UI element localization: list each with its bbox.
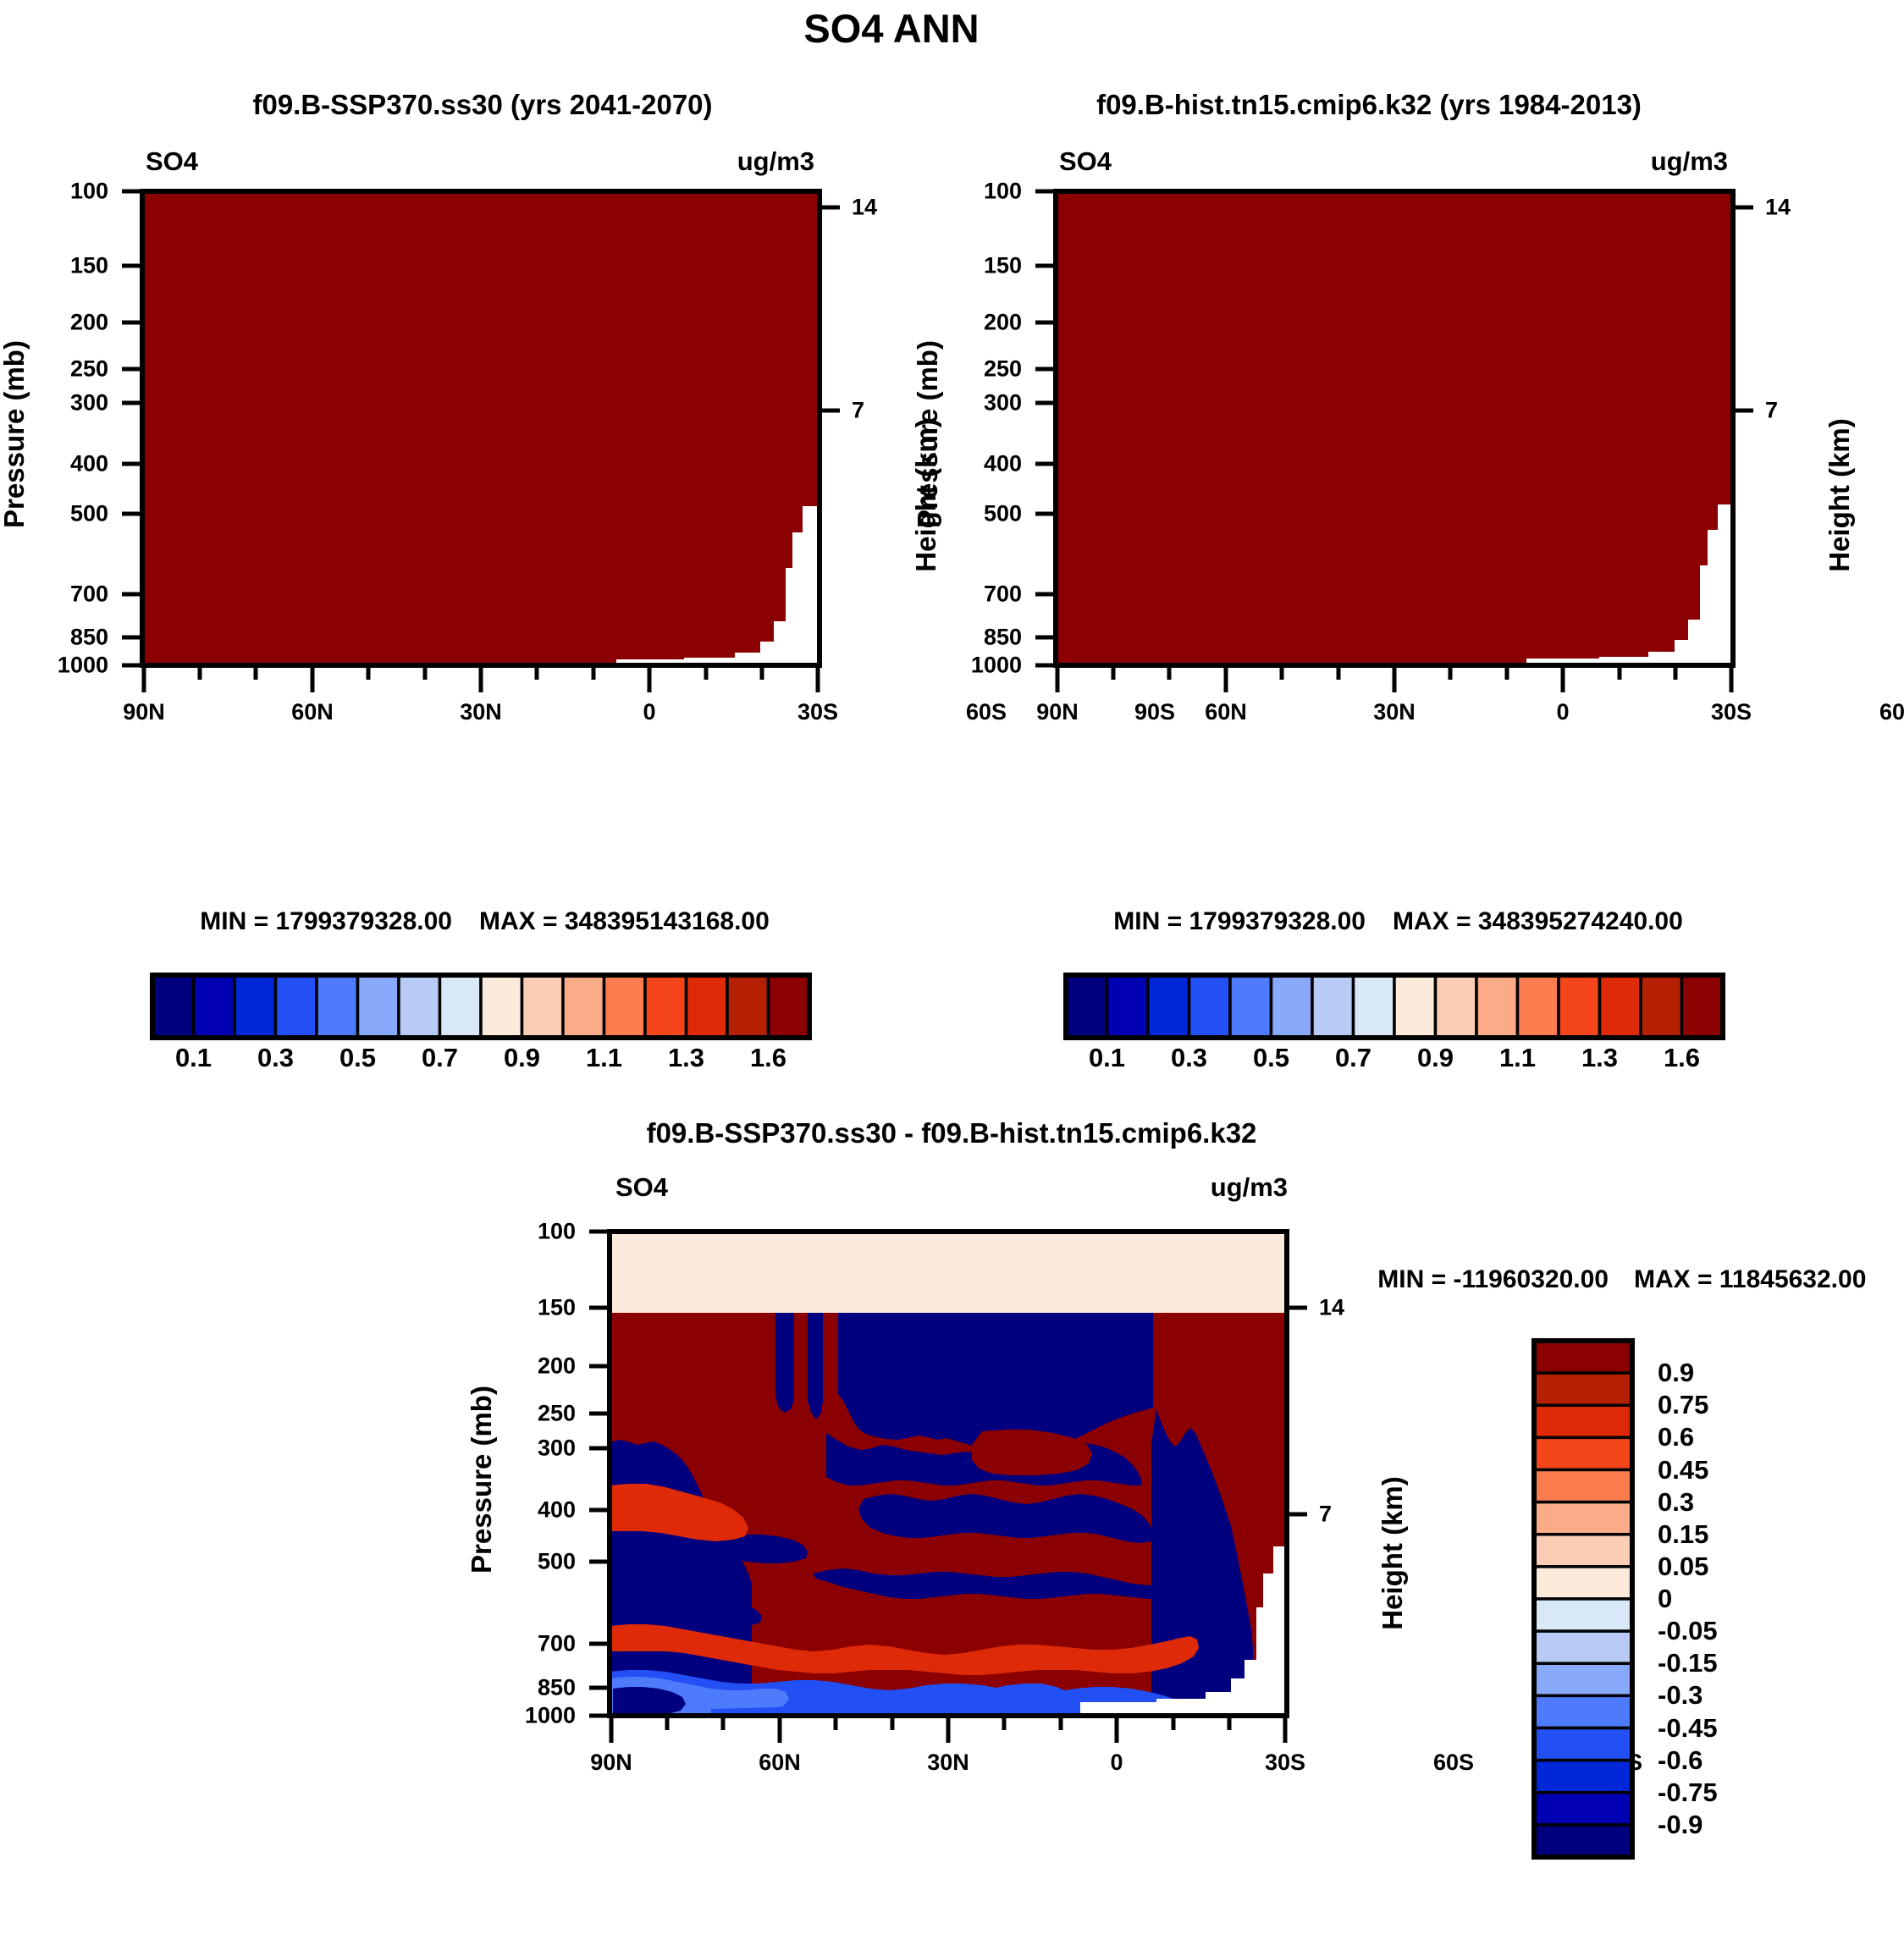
colorbar-cell: [522, 975, 564, 1038]
colorbar-cell: [645, 975, 687, 1038]
colorbar-cell: [1682, 975, 1724, 1038]
colorbar-tick-label: 0.1: [1089, 1043, 1125, 1073]
panel-case2-xtick-60S: 60S: [1879, 699, 1904, 725]
panel-diff-ytick-850: 850: [538, 1675, 576, 1701]
panel-case2-corner-left: SO4: [1059, 146, 1112, 177]
panel-diff-xtick-0: 0: [1110, 1750, 1123, 1776]
panel-case1-bottom-ticks: [139, 665, 826, 699]
colorbar-tick-label: 1.3: [1581, 1043, 1618, 1073]
colorbar-tick-label: -0.15: [1658, 1648, 1718, 1678]
colorbar-cell: [1600, 975, 1642, 1038]
colorbar-cell: [1534, 1695, 1632, 1728]
panel-case1-colorbar[interactable]: [152, 975, 809, 1038]
colorbar-cell: [1534, 1793, 1632, 1825]
panel-case1-ytick-250: 250: [70, 356, 108, 383]
panel-case1-ytick-300: 300: [70, 390, 108, 416]
panel-diff-ytick-1000: 1000: [525, 1703, 576, 1729]
colorbar-tick-label: -0.45: [1658, 1713, 1718, 1744]
panel-diff-bottom-ticks: [606, 1716, 1294, 1750]
panel-diff-neg-finger-a: [775, 1313, 794, 1413]
panel-case1-max-label: MAX = 348395143168.00: [479, 907, 770, 936]
panel-case2-ytick-250: 250: [984, 356, 1022, 383]
panel-diff-corner-left: SO4: [615, 1172, 668, 1203]
panel-case2-xtick-30N: 30N: [1373, 699, 1416, 725]
colorbar-cell: [317, 975, 358, 1038]
panel-case1-corner-left: SO4: [146, 146, 198, 177]
panel-diff-neg-finger-b: [808, 1313, 823, 1419]
colorbar-cell: [1148, 975, 1189, 1038]
colorbar-tick-label: 0.3: [1171, 1043, 1207, 1073]
colorbar-tick-label: 0.1: [175, 1043, 212, 1073]
panel-diff-min-label: MIN = -11960320.00: [1377, 1265, 1609, 1294]
panel-case1-xtick-90S: 90S: [1134, 699, 1175, 725]
colorbar-cell: [1534, 1437, 1632, 1469]
colorbar-cell: [1534, 1341, 1632, 1373]
panel-diff-pressure-axis-title: Pressure (mb): [466, 1386, 498, 1573]
panel-case1-xtick-30S: 30S: [797, 699, 838, 725]
colorbar-tick-label: 0.45: [1658, 1455, 1708, 1485]
colorbar-cell: [1534, 1373, 1632, 1405]
colorbar-tick-label: 0.75: [1658, 1390, 1708, 1420]
colorbar-cell: [1066, 975, 1107, 1038]
panel-diff-height-axis-title: Height (km): [1377, 1476, 1409, 1630]
colorbar-cell: [276, 975, 317, 1038]
colorbar-cell: [1436, 975, 1477, 1038]
colorbar-cell: [1518, 975, 1559, 1038]
colorbar-cell: [1534, 1761, 1632, 1793]
colorbar-cell: [727, 975, 769, 1038]
panel-case2-ytick-100: 100: [984, 179, 1022, 205]
panel-case1-ytick-850: 850: [70, 625, 108, 651]
main-title: SO4 ANN: [803, 5, 979, 52]
panel-case2-ytick-400: 400: [984, 451, 1022, 477]
colorbar-cell: [1107, 975, 1149, 1038]
colorbar-cell: [1534, 1502, 1632, 1535]
panel-diff-band-upper-zero: [610, 1232, 1287, 1313]
colorbar-tick-label: 0: [1658, 1584, 1672, 1614]
panel-case1-ytick-500: 500: [70, 501, 108, 527]
colorbar-cell: [440, 975, 482, 1038]
colorbar-tick-label: 0.7: [1335, 1043, 1371, 1073]
panel-diff-left-ticks: [584, 1225, 610, 1722]
panel-diff-title: f09.B-SSP370.ss30 - f09.B-hist.tn15.cmip…: [647, 1117, 1257, 1149]
panel-case2-pressure-axis-title: Pressure (mb): [912, 340, 944, 528]
panel-case2-xtick-0: 0: [1556, 699, 1569, 725]
panel-case1-min-label: MIN = 1799379328.00: [200, 907, 452, 936]
colorbar-tick-label: 1.1: [586, 1043, 622, 1073]
panel-case2-height-axis-title: Height (km): [1824, 418, 1856, 572]
colorbar-cell: [769, 975, 810, 1038]
panel-diff-plot: [610, 1232, 1287, 1716]
panel-case1-field: [142, 191, 820, 665]
panel-case2-xtick-90N: 90N: [1036, 699, 1079, 725]
panel-diff-ytick-300: 300: [538, 1436, 576, 1462]
colorbar-tick-label: 0.7: [422, 1043, 458, 1073]
colorbar-tick-label: 0.3: [257, 1043, 294, 1073]
panel-case1-htick-14: 14: [852, 195, 877, 221]
panel-case2-colorbar[interactable]: [1066, 975, 1723, 1038]
colorbar-cell: [1559, 975, 1600, 1038]
figure-canvas: SO4 ANN f09.B-SSP370.ss30 (yrs 2041-2070…: [0, 0, 1904, 1940]
panel-case2-ytick-150: 150: [984, 253, 1022, 279]
panel-case1-xtick-30N: 30N: [460, 699, 502, 725]
panel-case1-xtick-60N: 60N: [291, 699, 334, 725]
panel-case2-title: f09.B-hist.tn15.cmip6.k32 (yrs 1984-2013…: [1096, 89, 1642, 121]
panel-diff-ytick-500: 500: [538, 1549, 576, 1575]
panel-diff-htick-14: 14: [1319, 1295, 1344, 1321]
colorbar-cell: [1534, 1631, 1632, 1663]
colorbar-cell: [235, 975, 276, 1038]
colorbar-tick-label: -0.6: [1658, 1745, 1703, 1776]
colorbar-cell: [1476, 975, 1518, 1038]
panel-case1-xtick-0: 0: [643, 699, 655, 725]
panel-diff-xtick-90N: 90N: [590, 1750, 632, 1776]
panel-case1-ytick-700: 700: [70, 581, 108, 608]
colorbar-tick-label: 0.9: [1417, 1043, 1454, 1073]
colorbar-tick-label: 0.6: [1658, 1422, 1694, 1452]
panel-diff-xtick-30S: 30S: [1265, 1750, 1305, 1776]
panel-diff-htick-7: 7: [1319, 1502, 1332, 1528]
panel-case1-ytick-100: 100: [70, 179, 108, 205]
colorbar-tick-label: -0.75: [1658, 1777, 1718, 1808]
colorbar-cell: [604, 975, 646, 1038]
colorbar-cell: [194, 975, 235, 1038]
panel-case2-xtick-60N: 60N: [1205, 699, 1247, 725]
colorbar-cell: [1354, 975, 1395, 1038]
panel-case2-max-label: MAX = 348395274240.00: [1393, 907, 1683, 936]
panel-case2-htick-7: 7: [1765, 398, 1778, 424]
panel-case1-plot: [142, 191, 820, 665]
colorbar-cell: [1189, 975, 1231, 1038]
panel-case1-ytick-1000: 1000: [58, 653, 108, 679]
panel-case2-xtick-30S: 30S: [1711, 699, 1752, 725]
panel-case1-title: f09.B-SSP370.ss30 (yrs 2041-2070): [252, 89, 712, 121]
panel-case2-ytick-300: 300: [984, 390, 1022, 416]
colorbar-cell: [1534, 1470, 1632, 1502]
colorbar-cell: [1394, 975, 1436, 1038]
panel-case2-ytick-850: 850: [984, 625, 1022, 651]
panel-case1-ytick-200: 200: [70, 310, 108, 336]
panel-diff-ytick-700: 700: [538, 1631, 576, 1657]
colorbar-tick-label: -0.3: [1658, 1680, 1703, 1711]
colorbar-tick-label: 1.1: [1499, 1043, 1536, 1073]
panel-case2-ytick-1000: 1000: [971, 653, 1022, 679]
panel-case1-htick-7: 7: [852, 398, 864, 424]
panel-diff-xtick-60S: 60S: [1433, 1750, 1474, 1776]
panel-case1-xtick-90N: 90N: [123, 699, 165, 725]
panel-diff-colorbar[interactable]: [1534, 1341, 1632, 1857]
panel-case1-ytick-400: 400: [70, 451, 108, 477]
panel-diff-neg-band-mid2: [858, 1494, 1153, 1543]
colorbar-cell: [1230, 975, 1272, 1038]
panel-case2-field: [1056, 191, 1733, 665]
colorbar-cell: [399, 975, 440, 1038]
panel-case1-pressure-axis-title: Pressure (mb): [0, 340, 30, 528]
panel-case2-ytick-700: 700: [984, 581, 1022, 608]
colorbar-tick-label: 1.6: [1664, 1043, 1700, 1073]
panel-case2-ytick-500: 500: [984, 501, 1022, 527]
panel-diff-corner-right: ug/m3: [1211, 1172, 1288, 1203]
colorbar-cell: [1312, 975, 1354, 1038]
panel-diff-right-ticks: [1285, 1225, 1311, 1722]
panel-diff-xtick-30N: 30N: [927, 1750, 969, 1776]
panel-case2-htick-14: 14: [1765, 195, 1791, 221]
panel-case2-bottom-ticks: [1052, 665, 1740, 699]
panel-diff-ytick-150: 150: [538, 1295, 576, 1321]
panel-case2-corner-right: ug/m3: [1651, 146, 1728, 177]
panel-case2-right-ticks: [1731, 185, 1757, 672]
colorbar-tick-label: 1.3: [668, 1043, 704, 1073]
panel-diff-max-label: MAX = 11845632.00: [1634, 1265, 1866, 1294]
colorbar-tick-label: 0.15: [1658, 1519, 1708, 1550]
panel-case2-colorbar-labels: 0.10.30.50.70.91.11.31.6: [1066, 1043, 1723, 1077]
panel-diff-ytick-250: 250: [538, 1401, 576, 1427]
colorbar-cell: [1534, 1728, 1632, 1761]
colorbar-cell: [1534, 1567, 1632, 1599]
colorbar-tick-label: 0.05: [1658, 1551, 1708, 1582]
panel-case1-xtick-60S: 60S: [966, 699, 1007, 725]
colorbar-cell: [1534, 1405, 1632, 1437]
colorbar-tick-label: -0.05: [1658, 1616, 1718, 1646]
colorbar-cell: [1534, 1599, 1632, 1631]
colorbar-tick-label: 0.9: [1658, 1358, 1694, 1388]
panel-case1-right-ticks: [818, 185, 843, 672]
panel-diff-colorbar-labels: 0.90.750.60.450.30.150.050-0.05-0.15-0.3…: [1646, 1341, 1798, 1857]
colorbar-cell: [563, 975, 604, 1038]
panel-case1-left-ticks: [117, 185, 142, 672]
colorbar-cell: [152, 975, 194, 1038]
panel-case1-colorbar-labels: 0.10.30.50.70.91.11.31.6: [152, 1043, 809, 1077]
colorbar-cell: [358, 975, 400, 1038]
colorbar-tick-label: 1.6: [750, 1043, 786, 1073]
panel-diff-ytick-400: 400: [538, 1497, 576, 1524]
panel-case2-plot: [1056, 191, 1733, 665]
colorbar-cell: [1272, 975, 1313, 1038]
colorbar-tick-label: 0.5: [339, 1043, 376, 1073]
colorbar-tick-label: -0.9: [1658, 1810, 1703, 1840]
panel-diff-ytick-200: 200: [538, 1353, 576, 1380]
panel-case2-ytick-200: 200: [984, 310, 1022, 336]
colorbar-cell: [1641, 975, 1682, 1038]
panel-case1-ytick-150: 150: [70, 253, 108, 279]
panel-case1-corner-right: ug/m3: [737, 146, 814, 177]
colorbar-tick-label: 0.9: [504, 1043, 540, 1073]
colorbar-cell: [1534, 1535, 1632, 1567]
panel-case2-min-label: MIN = 1799379328.00: [1113, 907, 1366, 936]
colorbar-tick-label: 0.5: [1253, 1043, 1289, 1073]
colorbar-cell: [687, 975, 728, 1038]
panel-diff-ytick-100: 100: [538, 1219, 576, 1245]
colorbar-cell: [1534, 1825, 1632, 1857]
colorbar-cell: [1534, 1663, 1632, 1695]
panel-case2-left-ticks: [1030, 185, 1056, 672]
panel-diff-xtick-60N: 60N: [759, 1750, 801, 1776]
colorbar-tick-label: 0.3: [1658, 1487, 1694, 1518]
colorbar-cell: [481, 975, 522, 1038]
